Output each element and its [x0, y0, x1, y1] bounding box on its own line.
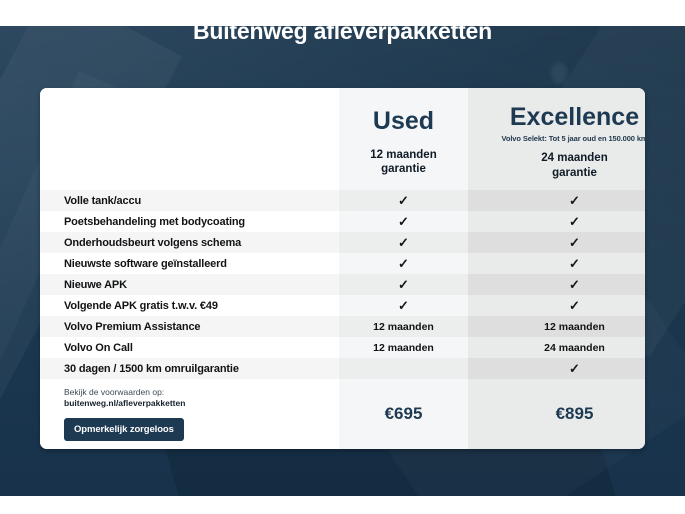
check-icon: ✓	[398, 236, 409, 249]
value-excellence: ✓	[468, 274, 645, 295]
table-row: Nieuwe APK ✓ ✓	[40, 274, 645, 295]
value-used: 12 maanden	[339, 316, 468, 337]
price-excellence: €895	[468, 379, 645, 449]
check-icon: ✓	[569, 299, 580, 312]
table-row: Volvo Premium Assistance 12 maanden 12 m…	[40, 316, 645, 337]
value-used: 12 maanden	[339, 337, 468, 358]
page-title: Buitenweg afleverpakketten	[0, 18, 685, 45]
column-warranty-used-line2: garantie	[345, 162, 462, 176]
table-row: Volgende APK gratis t.w.v. €49 ✓ ✓	[40, 295, 645, 316]
column-warranty-used: 12 maanden garantie	[345, 148, 462, 177]
table-row: 30 dagen / 1500 km omruilgarantie ✓	[40, 358, 645, 379]
cta-button[interactable]: Opmerkelijk zorgeloos	[64, 418, 184, 441]
feature-label: Volvo Premium Assistance	[40, 316, 339, 337]
check-icon: ✓	[398, 257, 409, 270]
table-row: Nieuwste software geïnstalleerd ✓ ✓	[40, 253, 645, 274]
feature-label: Poetsbehandeling met bodycoating	[40, 211, 339, 232]
check-icon: ✓	[398, 194, 409, 207]
check-icon: ✓	[398, 215, 409, 228]
value-excellence: 12 maanden	[468, 316, 645, 337]
price-used: €695	[339, 379, 468, 449]
column-warranty-excellence: 24 maanden garantie	[474, 151, 645, 180]
banner-highlight-blob	[551, 62, 567, 84]
feature-label: Volle tank/accu	[40, 190, 339, 211]
table-row: Volvo On Call 12 maanden 24 maanden	[40, 337, 645, 358]
value-excellence: ✓	[468, 358, 645, 379]
table-row: Volle tank/accu ✓ ✓	[40, 190, 645, 211]
column-warranty-excellence-line1: 24 maanden	[474, 151, 645, 165]
check-icon: ✓	[569, 236, 580, 249]
check-icon: ✓	[398, 278, 409, 291]
table-row: Poetsbehandeling met bodycoating ✓ ✓	[40, 211, 645, 232]
value-excellence: ✓	[468, 190, 645, 211]
value-excellence: ✓	[468, 253, 645, 274]
feature-label: 30 dagen / 1500 km omruilgarantie	[40, 358, 339, 379]
check-icon: ✓	[569, 215, 580, 228]
column-warranty-used-line1: 12 maanden	[345, 148, 462, 162]
value-excellence: 24 maanden	[468, 337, 645, 358]
feature-label: Nieuwe APK	[40, 274, 339, 295]
feature-label: Nieuwste software geïnstalleerd	[40, 253, 339, 274]
footer-info: Bekijk de voorwaarden op: buitenweg.nl/a…	[40, 379, 339, 449]
header-cell-used: Used 12 maanden garantie	[339, 88, 468, 190]
value-used: ✓	[339, 253, 468, 274]
value-excellence: ✓	[468, 295, 645, 316]
screenshot-root: Buitenweg afleverpakketten Used 12 maand…	[0, 0, 685, 514]
header-cell-excellence: Excellence Volvo Selekt: Tot 5 jaar oud …	[468, 88, 645, 190]
header-cell-empty	[40, 88, 339, 190]
value-excellence: ✓	[468, 232, 645, 253]
terms-note-line1: Bekijk de voorwaarden op:	[64, 387, 339, 398]
check-icon: ✓	[398, 299, 409, 312]
value-excellence: ✓	[468, 211, 645, 232]
column-title-used: Used	[345, 108, 462, 134]
feature-label: Onderhoudsbeurt volgens schema	[40, 232, 339, 253]
package-comparison-card: Used 12 maanden garantie Excellence Volv…	[40, 88, 645, 449]
value-used: ✓	[339, 190, 468, 211]
value-used: ✓	[339, 211, 468, 232]
check-icon: ✓	[569, 362, 580, 375]
value-used	[339, 358, 468, 379]
comparison-table: Used 12 maanden garantie Excellence Volv…	[40, 88, 645, 449]
check-icon: ✓	[569, 194, 580, 207]
terms-note: Bekijk de voorwaarden op: buitenweg.nl/a…	[64, 387, 339, 410]
check-icon: ✓	[569, 257, 580, 270]
table-row: Onderhoudsbeurt volgens schema ✓ ✓	[40, 232, 645, 253]
column-subtitle-excellence: Volvo Selekt: Tot 5 jaar oud en 150.000 …	[474, 134, 645, 143]
table-header-row: Used 12 maanden garantie Excellence Volv…	[40, 88, 645, 190]
column-warranty-excellence-line2: garantie	[474, 166, 645, 180]
table-footer-row: Bekijk de voorwaarden op: buitenweg.nl/a…	[40, 379, 645, 449]
value-used: ✓	[339, 232, 468, 253]
value-used: ✓	[339, 295, 468, 316]
feature-label: Volvo On Call	[40, 337, 339, 358]
terms-url[interactable]: buitenweg.nl/afleverpakketten	[64, 398, 339, 409]
feature-label: Volgende APK gratis t.w.v. €49	[40, 295, 339, 316]
value-used: ✓	[339, 274, 468, 295]
check-icon: ✓	[569, 278, 580, 291]
column-title-excellence: Excellence	[474, 104, 645, 130]
